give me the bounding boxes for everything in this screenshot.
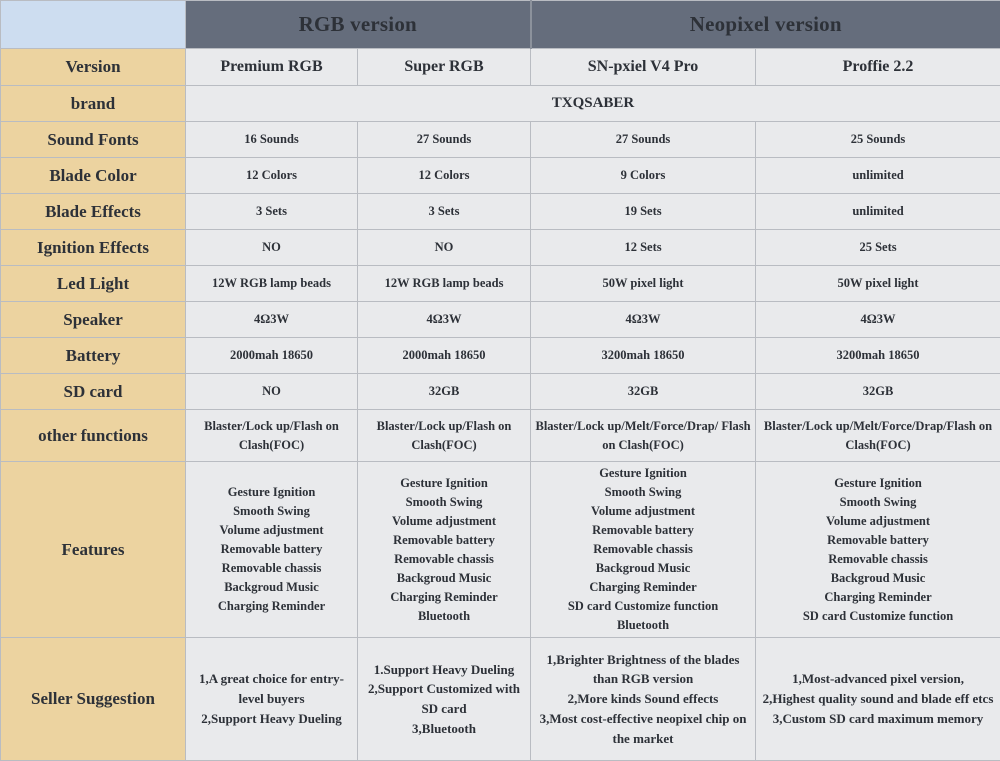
cell-ignition-effects-premium-rgb: NO xyxy=(186,230,358,266)
cell-features-sn-pxiel: Gesture Ignition Smooth Swing Volume adj… xyxy=(531,462,756,638)
row-label-other-functions: other functions xyxy=(1,410,186,462)
cell-battery-premium-rgb: 2000mah 18650 xyxy=(186,338,358,374)
row-label-sound-fonts: Sound Fonts xyxy=(1,122,186,158)
cell-blade-effects-super-rgb: 3 Sets xyxy=(358,194,531,230)
cell-sound-fonts-super-rgb: 27 Sounds xyxy=(358,122,531,158)
table-row-brand: brand TXQSABER xyxy=(1,86,1000,122)
table-row-blade-color: Blade Color 12 Colors 12 Colors 9 Colors… xyxy=(1,158,1000,194)
cell-seller-suggestion-super-rgb: 1.Support Heavy Dueling 2,Support Custom… xyxy=(358,638,531,761)
row-label-speaker: Speaker xyxy=(1,302,186,338)
features-list-proffie: Gesture Ignition Smooth Swing Volume adj… xyxy=(760,474,996,626)
cell-other-functions-premium-rgb: Blaster/Lock up/Flash on Clash(FOC) xyxy=(186,410,358,462)
cell-led-light-super-rgb: 12W RGB lamp beads xyxy=(358,266,531,302)
row-label-seller-suggestion: Seller Suggestion xyxy=(1,638,186,761)
row-label-blade-effects: Blade Effects xyxy=(1,194,186,230)
cell-ignition-effects-proffie: 25 Sets xyxy=(756,230,1000,266)
cell-other-functions-proffie: Blaster/Lock up/Melt/Force/Drap/Flash on… xyxy=(756,410,1000,462)
cell-speaker-premium-rgb: 4Ω3W xyxy=(186,302,358,338)
cell-speaker-sn-pxiel: 4Ω3W xyxy=(531,302,756,338)
cell-other-functions-sn-pxiel: Blaster/Lock up/Melt/Force/Drap/ Flash o… xyxy=(531,410,756,462)
table-row-other-functions: other functions Blaster/Lock up/Flash on… xyxy=(1,410,1000,462)
suggestion-list-proffie: 1,Most-advanced pixel version, 2,Highest… xyxy=(760,669,996,728)
cell-speaker-proffie: 4Ω3W xyxy=(756,302,1000,338)
cell-features-premium-rgb: Gesture Ignition Smooth Swing Volume adj… xyxy=(186,462,358,638)
cell-seller-suggestion-proffie: 1,Most-advanced pixel version, 2,Highest… xyxy=(756,638,1000,761)
cell-ignition-effects-sn-pxiel: 12 Sets xyxy=(531,230,756,266)
cell-seller-suggestion-premium-rgb: 1,A great choice for entry-level buyers … xyxy=(186,638,358,761)
cell-sd-card-premium-rgb: NO xyxy=(186,374,358,410)
table-row-speaker: Speaker 4Ω3W 4Ω3W 4Ω3W 4Ω3W xyxy=(1,302,1000,338)
cell-battery-super-rgb: 2000mah 18650 xyxy=(358,338,531,374)
table-corner-cell xyxy=(1,1,186,49)
cell-led-light-premium-rgb: 12W RGB lamp beads xyxy=(186,266,358,302)
cell-blade-color-premium-rgb: 12 Colors xyxy=(186,158,358,194)
table-row-version: Version Premium RGB Super RGB SN-pxiel V… xyxy=(1,49,1000,86)
row-label-battery: Battery xyxy=(1,338,186,374)
cell-blade-effects-sn-pxiel: 19 Sets xyxy=(531,194,756,230)
cell-features-proffie: Gesture Ignition Smooth Swing Volume adj… xyxy=(756,462,1000,638)
features-list-super-rgb: Gesture Ignition Smooth Swing Volume adj… xyxy=(362,474,526,626)
cell-led-light-proffie: 50W pixel light xyxy=(756,266,1000,302)
column-header-proffie-22: Proffie 2.2 xyxy=(756,49,1000,86)
brand-value: TXQSABER xyxy=(186,86,1000,122)
cell-blade-color-proffie: unlimited xyxy=(756,158,1000,194)
cell-features-super-rgb: Gesture Ignition Smooth Swing Volume adj… xyxy=(358,462,531,638)
cell-sd-card-sn-pxiel: 32GB xyxy=(531,374,756,410)
cell-seller-suggestion-sn-pxiel: 1,Brighter Brightness of the blades than… xyxy=(531,638,756,761)
suggestion-list-premium-rgb: 1,A great choice for entry-level buyers … xyxy=(190,669,353,728)
row-label-led-light: Led Light xyxy=(1,266,186,302)
product-comparison-table: RGB version Neopixel version Version Pre… xyxy=(0,0,1000,761)
table-row-led-light: Led Light 12W RGB lamp beads 12W RGB lam… xyxy=(1,266,1000,302)
table-row-sound-fonts: Sound Fonts 16 Sounds 27 Sounds 27 Sound… xyxy=(1,122,1000,158)
group-header-neopixel-version: Neopixel version xyxy=(531,1,1000,49)
row-label-ignition-effects: Ignition Effects xyxy=(1,230,186,266)
cell-led-light-sn-pxiel: 50W pixel light xyxy=(531,266,756,302)
cell-sd-card-proffie: 32GB xyxy=(756,374,1000,410)
row-label-blade-color: Blade Color xyxy=(1,158,186,194)
table-row-ignition-effects: Ignition Effects NO NO 12 Sets 25 Sets xyxy=(1,230,1000,266)
table-row-blade-effects: Blade Effects 3 Sets 3 Sets 19 Sets unli… xyxy=(1,194,1000,230)
cell-blade-color-sn-pxiel: 9 Colors xyxy=(531,158,756,194)
cell-speaker-super-rgb: 4Ω3W xyxy=(358,302,531,338)
table-row-sd-card: SD card NO 32GB 32GB 32GB xyxy=(1,374,1000,410)
cell-ignition-effects-super-rgb: NO xyxy=(358,230,531,266)
group-header-rgb-version: RGB version xyxy=(186,1,531,49)
suggestion-list-super-rgb: 1.Support Heavy Dueling 2,Support Custom… xyxy=(362,660,526,739)
cell-other-functions-super-rgb: Blaster/Lock up/Flash on Clash(FOC) xyxy=(358,410,531,462)
cell-blade-effects-premium-rgb: 3 Sets xyxy=(186,194,358,230)
column-header-super-rgb: Super RGB xyxy=(358,49,531,86)
cell-sd-card-super-rgb: 32GB xyxy=(358,374,531,410)
cell-battery-sn-pxiel: 3200mah 18650 xyxy=(531,338,756,374)
table-row-seller-suggestion: Seller Suggestion 1,A great choice for e… xyxy=(1,638,1000,761)
cell-sound-fonts-premium-rgb: 16 Sounds xyxy=(186,122,358,158)
cell-blade-color-super-rgb: 12 Colors xyxy=(358,158,531,194)
table-row-battery: Battery 2000mah 18650 2000mah 18650 3200… xyxy=(1,338,1000,374)
features-list-sn-pxiel: Gesture Ignition Smooth Swing Volume adj… xyxy=(535,464,751,635)
column-header-sn-pxiel-v4-pro: SN-pxiel V4 Pro xyxy=(531,49,756,86)
cell-battery-proffie: 3200mah 18650 xyxy=(756,338,1000,374)
cell-sound-fonts-sn-pxiel: 27 Sounds xyxy=(531,122,756,158)
column-header-premium-rgb: Premium RGB xyxy=(186,49,358,86)
features-list-premium-rgb: Gesture Ignition Smooth Swing Volume adj… xyxy=(190,483,353,616)
cell-blade-effects-proffie: unlimited xyxy=(756,194,1000,230)
row-label-brand: brand xyxy=(1,86,186,122)
cell-sound-fonts-proffie: 25 Sounds xyxy=(756,122,1000,158)
table-group-header-row: RGB version Neopixel version xyxy=(1,1,1000,49)
table-row-features: Features Gesture Ignition Smooth Swing V… xyxy=(1,462,1000,638)
suggestion-list-sn-pxiel: 1,Brighter Brightness of the blades than… xyxy=(535,650,751,749)
row-label-version: Version xyxy=(1,49,186,86)
row-label-features: Features xyxy=(1,462,186,638)
row-label-sd-card: SD card xyxy=(1,374,186,410)
